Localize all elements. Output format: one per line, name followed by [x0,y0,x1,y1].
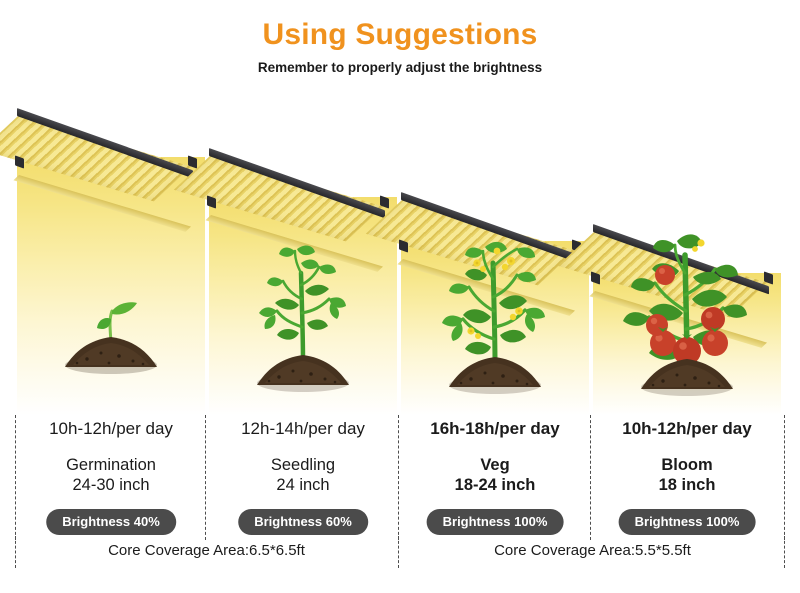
divider-left-edge [15,415,16,540]
stage-visual-veg [399,95,591,415]
stage-name: Germination [15,456,207,475]
light-hours: 10h-12h/per day [591,419,783,439]
stage-labels: 10h-12h/per day Germination 24-30 inch B… [15,415,785,525]
light-hours: 16h-18h/per day [399,419,591,439]
coverage-area-left: Core Coverage Area:6.5*6.5ft [15,542,398,559]
stage-label-bloom: 10h-12h/per day Bloom 18 inch Brightness… [591,415,783,495]
stage-visual-germination [15,95,207,415]
infographic-page: Using Suggestions Remember to properly a… [0,0,800,593]
seedling-plant-icon [207,215,399,415]
sprout-icon [15,215,207,415]
page-subtitle: Remember to properly adjust the brightne… [0,52,800,75]
stage-name: Seedling [207,456,399,475]
brightness-badge: Brightness 40% [46,509,176,535]
led-panel-face [0,115,191,201]
light-hours: 12h-14h/per day [207,419,399,439]
divider-veg-bloom [590,415,591,540]
divider-germination-seedling [205,415,206,540]
hanging-height: 18-24 inch [399,476,591,495]
footer: Core Coverage Area:6.5*6.5ft Core Covera… [15,536,785,570]
stage-visuals [15,95,785,415]
coverage-area-right: Core Coverage Area:5.5*5.5ft [400,542,785,559]
divider-seedling-veg [398,415,399,540]
hanging-height: 24 inch [207,476,399,495]
hanging-height: 18 inch [591,476,783,495]
stage-label-veg: 16h-18h/per day Veg 18-24 inch Brightnes… [399,415,591,495]
stage-name: Bloom [591,456,783,475]
stage-label-germination: 10h-12h/per day Germination 24-30 inch B… [15,415,207,495]
flowering-plant-icon [399,215,591,415]
light-hours: 10h-12h/per day [15,419,207,439]
divider-right-edge [784,415,785,540]
stage-visual-bloom [591,95,783,415]
brightness-badge: Brightness 100% [619,509,756,535]
led-grow-light-icon [15,101,205,193]
brightness-badge: Brightness 60% [238,509,368,535]
brightness-badge: Brightness 100% [427,509,564,535]
page-title: Using Suggestions [0,0,800,52]
fruiting-tomato-plant-icon [591,215,783,415]
stage-name: Veg [399,456,591,475]
hanging-height: 24-30 inch [15,476,207,495]
stage-visual-seedling [207,95,399,415]
stage-label-seedling: 12h-14h/per day Seedling 24 inch Brightn… [207,415,399,495]
led-rail-cap-left [15,155,24,168]
led-rail-cap-left [207,195,216,208]
header: Using Suggestions Remember to properly a… [0,0,800,75]
